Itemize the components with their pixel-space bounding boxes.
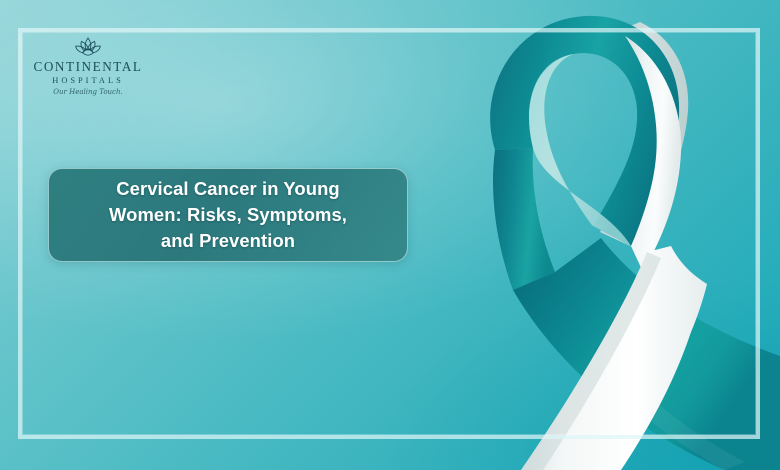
poster-canvas: CONTINENTAL HOSPITALS Our Healing Touch.… [0, 0, 780, 470]
brand-logo[interactable]: CONTINENTAL HOSPITALS Our Healing Touch. [26, 36, 150, 96]
brand-subtitle: HOSPITALS [26, 77, 150, 85]
awareness-ribbon-graphic [425, 0, 780, 470]
page-title-line-3: and Prevention [161, 230, 295, 251]
lotus-flower-icon [26, 36, 150, 58]
page-title-line-2: Women: Risks, Symptoms, [109, 204, 347, 225]
headline-card: Cervical Cancer in Young Women: Risks, S… [48, 168, 408, 262]
brand-tagline: Our Healing Touch. [26, 89, 150, 96]
brand-name: CONTINENTAL [26, 60, 150, 73]
page-title-line-1: Cervical Cancer in Young [116, 178, 340, 199]
page-title: Cervical Cancer in Young Women: Risks, S… [95, 176, 361, 254]
